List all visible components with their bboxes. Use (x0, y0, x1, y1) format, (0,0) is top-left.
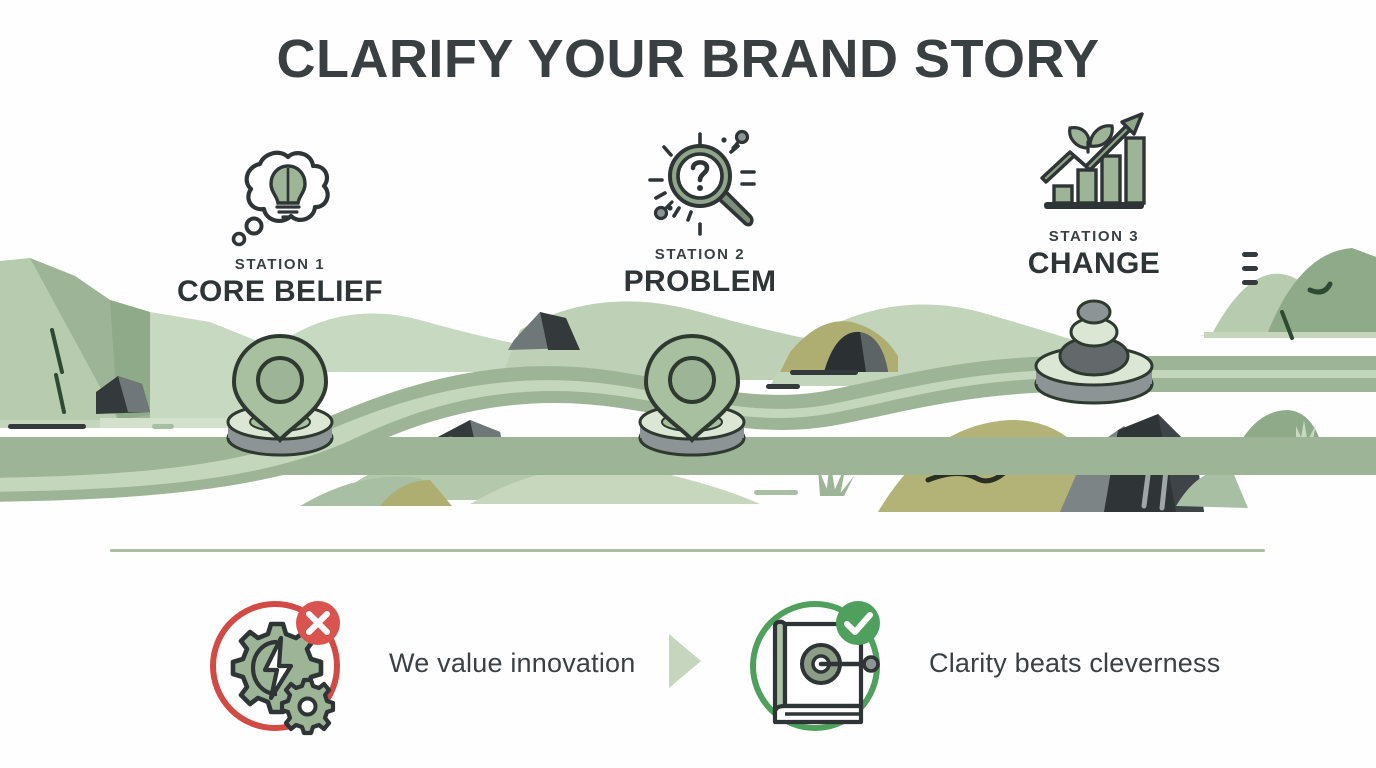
decor-dash (766, 384, 800, 389)
after-icon-badge (745, 588, 895, 738)
comparison-after-item[interactable]: Clarity beats cleverness (745, 588, 1220, 738)
before-label: We value innovation (389, 648, 635, 679)
station-kicker: STATION 3 (964, 228, 1224, 245)
section-divider (110, 549, 1265, 552)
station-1-map-pin-marker (228, 336, 332, 455)
station-1-block[interactable]: STATION 1 CORE BELIEF (150, 140, 410, 309)
decor-dash (790, 370, 858, 375)
infographic-canvas: CLARIFY YOUR BRAND STORY (0, 0, 1376, 768)
decor-dash (1242, 280, 1258, 285)
before-icon-badge (205, 588, 355, 738)
decor-dash (152, 424, 174, 429)
right-hills-group (1200, 248, 1376, 338)
station-title: CHANGE (964, 247, 1224, 281)
station-2-block[interactable]: STATION 2 PROBLEM (570, 130, 830, 299)
magnifier-question-icon (570, 130, 830, 240)
station-3-stacked-stones-cairn (1036, 301, 1152, 403)
decor-dash (8, 424, 86, 429)
decor-dash (1242, 252, 1258, 257)
decor-dash (1242, 266, 1258, 271)
decor-dash (754, 490, 798, 495)
after-label: Clarity beats cleverness (929, 648, 1220, 679)
station-kicker: STATION 2 (570, 246, 830, 263)
right-triangle-arrow-icon (665, 632, 705, 690)
thought-bubble-lightbulb-icon (150, 140, 410, 250)
station-title: PROBLEM (570, 265, 830, 299)
station-kicker: STATION 1 (150, 256, 410, 273)
station-3-block[interactable]: STATION 3 CHANGE (964, 112, 1224, 281)
growth-chart-leaf-icon (964, 112, 1224, 222)
comparison-before-item[interactable]: We value innovation (205, 588, 635, 738)
station-2-map-pin-marker (640, 336, 744, 455)
station-title: CORE BELIEF (150, 275, 410, 309)
